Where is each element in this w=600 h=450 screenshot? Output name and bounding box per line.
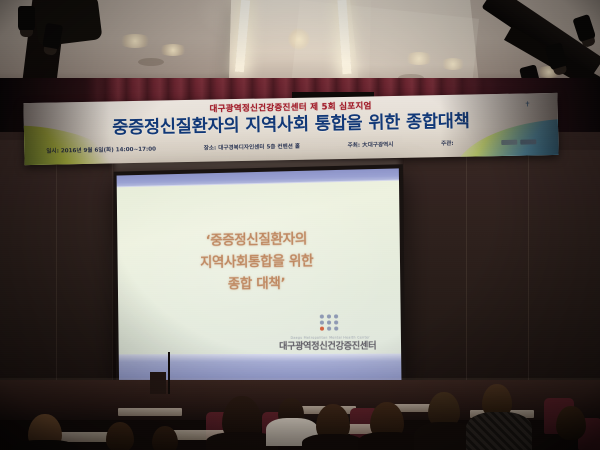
- logo-dot: [334, 320, 338, 324]
- logo-dot: [327, 314, 331, 318]
- slide-top-band: [117, 168, 399, 187]
- slide-title-line-3: 종합 대책’: [118, 272, 401, 297]
- photo-scene: 대구광역정신건강증진센터 제 5회 심포지엄 중증정신질환자의 지역사회 통합을…: [0, 0, 600, 450]
- logo-dot-accent: [320, 327, 324, 331]
- audience-body: [302, 434, 364, 450]
- logo-dots-icon: [320, 314, 339, 330]
- banner-organizer-logos: [501, 139, 536, 145]
- projection-screen: ‘중증정신질환자의 지역사회통합을 위한 종합 대책’ Daegu Metrop…: [114, 164, 406, 386]
- slide-surface: ‘중증정신질환자의 지역사회통합을 위한 종합 대책’ Daegu Metrop…: [117, 168, 402, 380]
- audience-head: [106, 422, 134, 450]
- downlight-icon: [158, 44, 188, 56]
- audience-body: [358, 432, 418, 450]
- logo-dot: [327, 321, 331, 325]
- wall-panel: [0, 140, 57, 380]
- audience-head: [556, 406, 586, 440]
- logo-dot: [327, 327, 331, 331]
- logo-dot: [335, 327, 339, 331]
- wall-panel: [56, 140, 113, 380]
- wall-panel: [528, 150, 600, 380]
- audience-head: [152, 426, 178, 450]
- organizer-logo-icon: [520, 139, 536, 144]
- banner-organizer: 주관:: [441, 139, 454, 147]
- banner-host: 주최: 大대구광역시: [348, 140, 394, 149]
- downlight-icon: [440, 58, 466, 70]
- logo-dot: [334, 314, 338, 318]
- banner-venue: 장소: 대구경북디자인센터 5층 컨벤션 홀: [204, 142, 300, 152]
- downlight-icon: [404, 52, 434, 65]
- ceiling-vent: [138, 58, 164, 66]
- downlight-icon: [118, 34, 152, 48]
- audience-area: [0, 382, 600, 450]
- wall-panel: [404, 150, 467, 380]
- audience-body: [12, 440, 78, 450]
- banner-datetime: 일시: 2016년 9월 6일(화) 14:00~17:00: [46, 145, 156, 155]
- center-logo: Daegu Metropolitan Mental Health Center: [290, 314, 370, 340]
- audience-body: [466, 412, 532, 450]
- banner-cross-icon: ✝: [520, 101, 536, 125]
- logo-dot: [320, 314, 324, 318]
- slide-title: ‘중증정신질환자의 지역사회통합을 위한 종합 대책’: [117, 227, 400, 297]
- slide-organization: 대구광역정신건강증진센터: [279, 338, 376, 351]
- spotlight-icon: [18, 6, 35, 32]
- downlight-icon: [288, 28, 310, 50]
- organizer-logo-icon: [501, 139, 517, 144]
- logo-dot: [320, 321, 324, 325]
- desk: [118, 408, 182, 416]
- event-banner: 대구광역정신건강증진센터 제 5회 심포지엄 중증정신질환자의 지역사회 통합을…: [23, 93, 558, 165]
- wall-panel: [466, 150, 529, 380]
